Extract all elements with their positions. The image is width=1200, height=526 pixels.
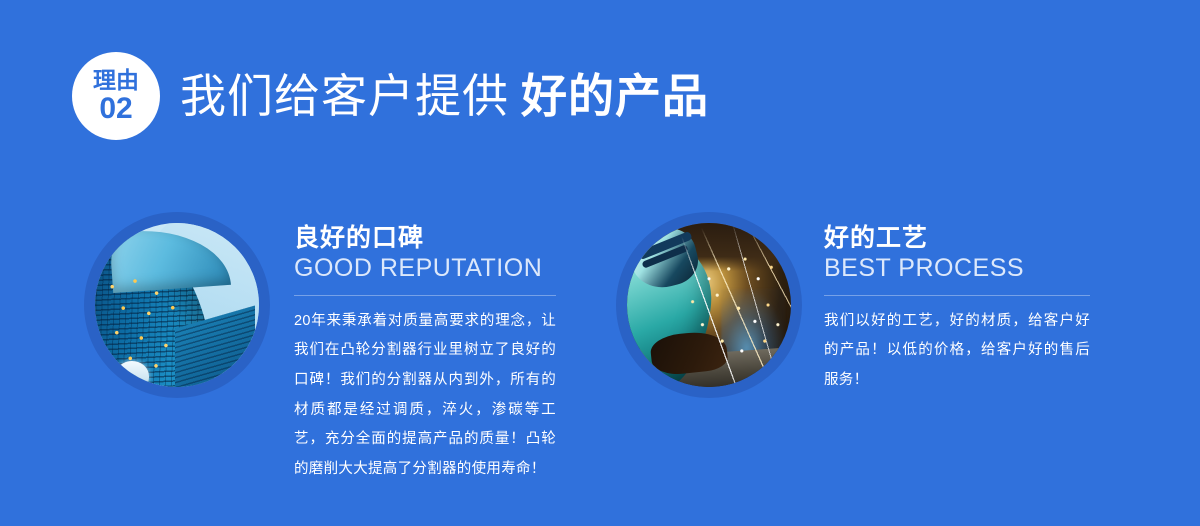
- feature-item-process: 好的工艺 BEST PROCESS 我们以好的工艺，好的材质，给客户好的产品！以…: [616, 212, 1090, 398]
- title-divider: [294, 295, 556, 296]
- feature-title-cn: 好的工艺: [824, 224, 1090, 254]
- feature-title-en: GOOD REPUTATION: [294, 254, 556, 283]
- spark-particles-shape: [627, 223, 791, 387]
- glass-skyscraper-photo: [95, 223, 259, 387]
- photo-ring: [616, 212, 802, 398]
- feature-text-block: 良好的口碑 GOOD REPUTATION 20年来秉承着对质量高要求的理念，让…: [294, 212, 556, 485]
- photo-ring: [84, 212, 270, 398]
- feature-body-text: 我们以好的工艺，好的材质，给客户好的产品！以低的价格，给客户好的售后服务！: [824, 307, 1090, 396]
- welder-sparks-photo: [627, 223, 791, 387]
- headline-light-part: 我们给客户提供: [180, 72, 509, 120]
- feature-text-block: 好的工艺 BEST PROCESS 我们以好的工艺，好的材质，给客户好的产品！以…: [824, 212, 1090, 396]
- feature-title-en: BEST PROCESS: [824, 254, 1090, 283]
- badge-label: 理由: [93, 69, 139, 92]
- badge-number: 02: [99, 94, 132, 124]
- feature-item-reputation: 良好的口碑 GOOD REPUTATION 20年来秉承着对质量高要求的理念，让…: [84, 212, 556, 485]
- page-title: 我们给客户提供 好的产品: [180, 72, 709, 120]
- feature-body-text: 20年来秉承着对质量高要求的理念，让我们在凸轮分割器行业里树立了良好的口碑！我们…: [294, 307, 556, 485]
- title-divider: [824, 295, 1090, 296]
- reason-badge: 理由 02: [72, 52, 160, 140]
- feature-list: 良好的口碑 GOOD REPUTATION 20年来秉承着对质量高要求的理念，让…: [0, 212, 1200, 512]
- street-lamp-icon: [115, 361, 149, 387]
- section-header: 理由 02 我们给客户提供 好的产品: [72, 52, 709, 140]
- headline-bold-part: 好的产品: [521, 72, 709, 120]
- feature-title-cn: 良好的口碑: [294, 224, 556, 254]
